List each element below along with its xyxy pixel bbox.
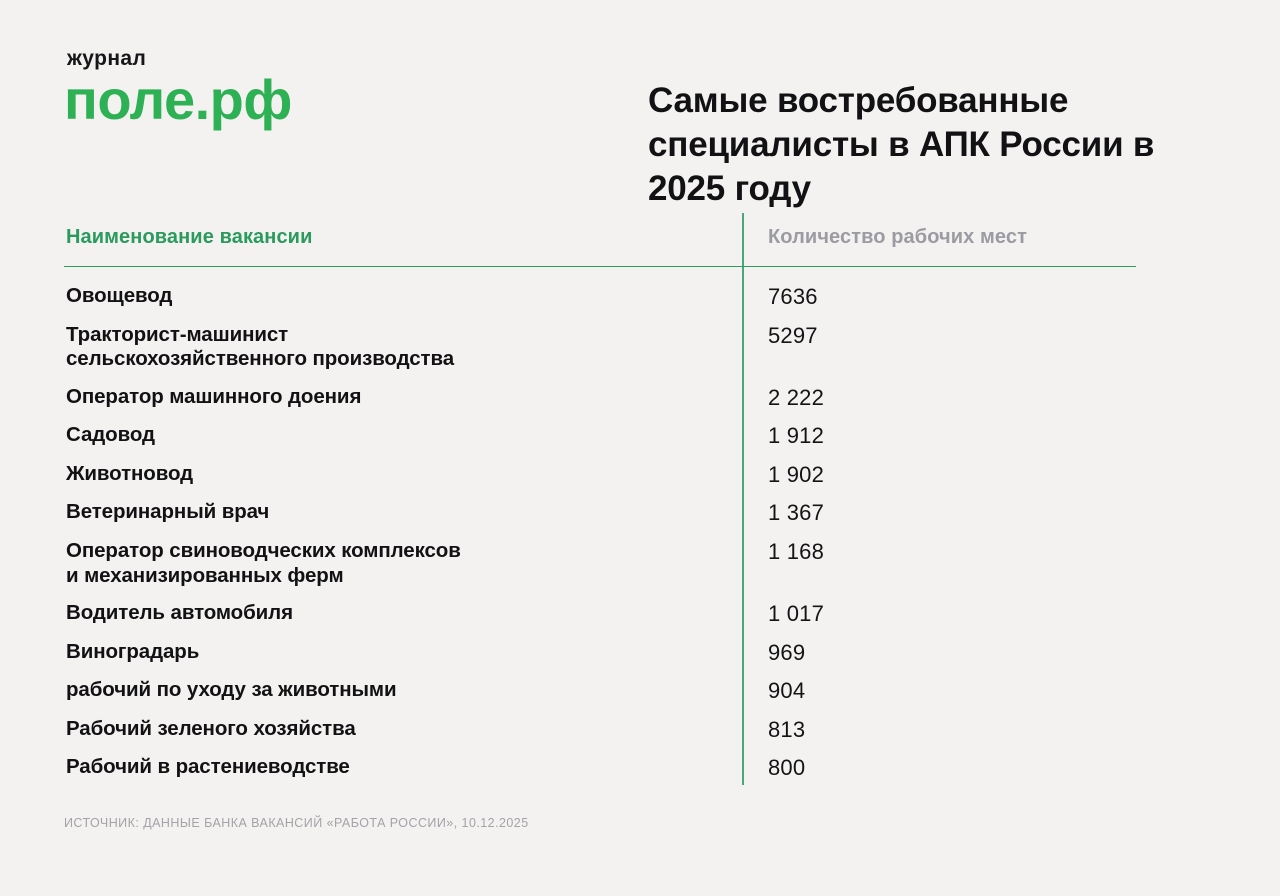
cell-job-count: 1 168 [768, 539, 824, 564]
cell-job-count: 813 [768, 717, 805, 742]
cell-vacancy-name: Животновод [66, 462, 726, 487]
cell-vacancy-name: Водитель автомобиля [66, 601, 726, 626]
cell-vacancy-name: Рабочий в растениеводстве [66, 755, 726, 780]
cell-vacancy-name: Оператор свиноводческих комплексов и мех… [66, 539, 726, 588]
cell-job-count: 1 902 [768, 462, 824, 487]
table-row: Ветеринарный врач1 367 [64, 500, 1136, 539]
cell-vacancy-name: Овощевод [66, 284, 726, 309]
table-row: Рабочий зеленого хозяйства813 [64, 717, 1136, 756]
table-row: Садовод1 912 [64, 423, 1136, 462]
vacancies-table: Наименование вакансии Количество рабочих… [64, 213, 1136, 794]
brand-wordmark: поле.рф [64, 71, 484, 128]
page-header: журнал поле.рф Самые востребованные спец… [0, 0, 1280, 200]
cell-vacancy-name: Тракторист-машинист сельскохозяйственног… [66, 323, 726, 372]
table-row: Водитель автомобиля1 017 [64, 601, 1136, 640]
cell-job-count: 969 [768, 640, 805, 665]
cell-vacancy-name: Оператор машинного доения [66, 385, 726, 410]
cell-job-count: 904 [768, 678, 805, 703]
table-body: Овощевод7636Тракторист-машинист сельскох… [64, 267, 1136, 794]
cell-vacancy-name: Ветеринарный врач [66, 500, 726, 525]
table-row: Оператор свиноводческих комплексов и мех… [64, 539, 1136, 601]
cell-vacancy-name: Рабочий зеленого хозяйства [66, 717, 726, 742]
table-row: Виноградарь969 [64, 640, 1136, 679]
cell-job-count: 800 [768, 755, 805, 780]
table-row: Овощевод7636 [64, 284, 1136, 323]
cell-job-count: 2 222 [768, 385, 824, 410]
cell-vacancy-name: рабочий по уходу за животными [66, 678, 726, 703]
cell-vacancy-name: Виноградарь [66, 640, 726, 665]
table-row: Тракторист-машинист сельскохозяйственног… [64, 323, 1136, 385]
column-header-vacancy-name: Наименование вакансии [66, 227, 312, 247]
cell-job-count: 1 367 [768, 500, 824, 525]
infographic-page: журнал поле.рф Самые востребованные спец… [0, 0, 1280, 896]
table-header-row: Наименование вакансии Количество рабочих… [64, 213, 1136, 267]
cell-job-count: 5297 [768, 323, 818, 348]
table-row: Животновод1 902 [64, 462, 1136, 501]
table-row: Оператор машинного доения2 222 [64, 385, 1136, 424]
brand-logo: журнал поле.рф [64, 48, 484, 128]
page-title: Самые востребованные специалисты в АПК Р… [648, 79, 1238, 210]
column-header-job-count: Количество рабочих мест [768, 227, 1027, 247]
cell-job-count: 1 912 [768, 423, 824, 448]
source-note: ИСТОЧНИК: ДАННЫЕ БАНКА ВАКАНСИЙ «РАБОТА … [64, 816, 529, 830]
table-row: Рабочий в растениеводстве800 [64, 755, 1136, 794]
cell-vacancy-name: Садовод [66, 423, 726, 448]
brand-kicker: журнал [67, 48, 484, 69]
cell-job-count: 1 017 [768, 601, 824, 626]
cell-job-count: 7636 [768, 284, 818, 309]
table-row: рабочий по уходу за животными904 [64, 678, 1136, 717]
